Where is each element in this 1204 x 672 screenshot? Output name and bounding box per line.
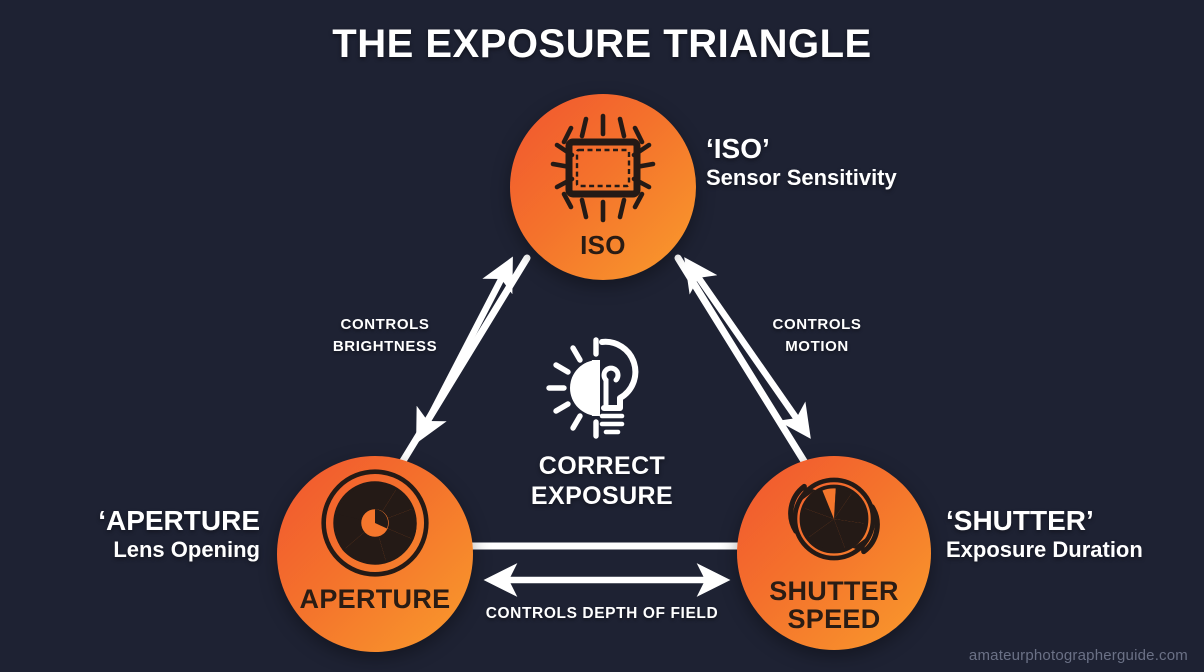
node-aperture-label: APERTURE xyxy=(300,586,451,614)
node-aperture-content: APERTURE xyxy=(277,456,473,652)
node-iso-label: ISO xyxy=(580,232,626,259)
watermark: amateurphotographerguide.com xyxy=(969,647,1188,664)
edge-label-bottom: CONTROLS DEPTH OF FIELD xyxy=(452,603,752,625)
caption-shutter-sub: Exposure Duration xyxy=(946,537,1143,563)
edge-label-bottom-line1: CONTROLS DEPTH OF FIELD xyxy=(486,605,719,622)
edge-label-left: CONTROLS BRIGHTNESS xyxy=(310,314,460,358)
edge-label-right: CONTROLS MOTION xyxy=(742,314,892,358)
node-aperture[interactable]: APERTURE xyxy=(277,456,473,652)
shutter-rotation-icon xyxy=(778,466,890,572)
edge-label-right-line2: MOTION xyxy=(785,338,849,355)
caption-aperture-sub: Lens Opening xyxy=(98,537,260,563)
edge-label-right-line1: CONTROLS xyxy=(773,316,862,333)
caption-aperture-title: ‘APERTURE xyxy=(98,506,260,537)
node-shutter-label-line2: SPEED xyxy=(787,604,880,634)
node-shutter[interactable]: SHUTTER SPEED xyxy=(737,456,931,650)
infographic-canvas: THE EXPOSURE TRIANGLE xyxy=(0,0,1204,672)
edge-label-left-line1: CONTROLS xyxy=(341,316,430,333)
node-shutter-content: SHUTTER SPEED xyxy=(737,456,931,650)
node-iso[interactable]: ISO xyxy=(510,94,696,280)
sun-lightbulb-icon xyxy=(540,336,664,442)
center-exposure-label: CORRECT EXPOSURE xyxy=(531,452,673,511)
center-exposure-line2: EXPOSURE xyxy=(531,482,673,510)
node-shutter-label: SHUTTER SPEED xyxy=(769,578,899,633)
center-exposure-line1: CORRECT xyxy=(539,452,665,480)
caption-iso: ‘ISO’ Sensor Sensitivity xyxy=(706,134,897,191)
node-shutter-label-line1: SHUTTER xyxy=(769,576,899,606)
node-iso-content: ISO xyxy=(510,94,696,280)
edge-label-left-line2: BRIGHTNESS xyxy=(333,338,437,355)
caption-shutter: ‘SHUTTER’ Exposure Duration xyxy=(946,506,1143,563)
caption-iso-title: ‘ISO’ xyxy=(706,134,897,165)
sensor-rays-icon xyxy=(542,112,664,228)
aperture-blades-icon xyxy=(320,468,430,578)
caption-iso-sub: Sensor Sensitivity xyxy=(706,165,897,191)
center-exposure-block: CORRECT EXPOSURE xyxy=(482,336,722,511)
caption-aperture: ‘APERTURE Lens Opening xyxy=(98,506,260,563)
caption-shutter-title: ‘SHUTTER’ xyxy=(946,506,1143,537)
